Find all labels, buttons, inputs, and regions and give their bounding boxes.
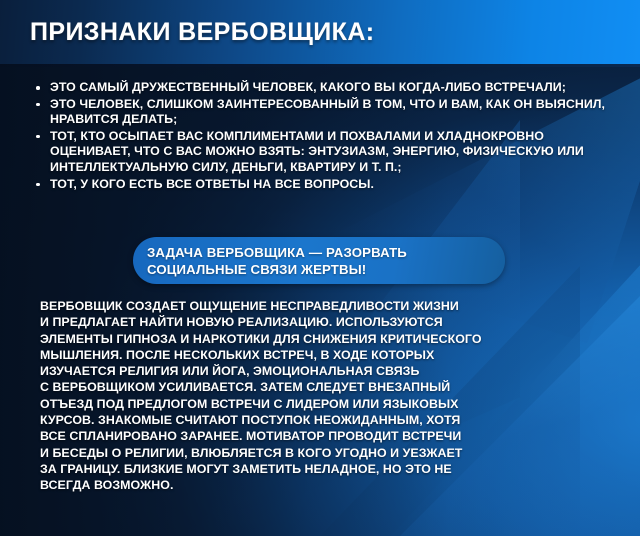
- list-item: ТОТ, КТО ОСЫПАЕТ ВАС КОМПЛИМЕНТАМИ И ПОХ…: [32, 129, 618, 176]
- body-line: ИЗУЧАЕТСЯ РЕЛИГИЯ ИЛИ ЙОГА, ЭМОЦИОНАЛЬНА…: [40, 363, 620, 379]
- infographic-slide: ПРИЗНАКИ ВЕРБОВЩИКА: ЭТО САМЫЙ ДРУЖЕСТВЕ…: [0, 0, 640, 536]
- body-line: ВСЕ СПЛАНИРОВАНО ЗАРАНЕЕ. МОТИВАТОР ПРОВ…: [40, 428, 620, 444]
- page-title: ПРИЗНАКИ ВЕРБОВЩИКА:: [30, 18, 375, 47]
- body-line: МЫШЛЕНИЯ. ПОСЛЕ НЕСКОЛЬКИХ ВСТРЕЧ, В ХОД…: [40, 347, 620, 363]
- body-line: ЭЛЕМЕНТЫ ГИПНОЗА И НАРКОТИКИ ДЛЯ СНИЖЕНИ…: [40, 331, 620, 347]
- callout-banner: ЗАДАЧА ВЕРБОВЩИКА — РАЗОРВАТЬ СОЦИАЛЬНЫЕ…: [133, 237, 505, 284]
- header-underline: [0, 64, 640, 67]
- callout-line-2: СОЦИАЛЬНЫЕ СВЯЗИ ЖЕРТВЫ!: [147, 262, 366, 277]
- list-item: ТОТ, У КОГО ЕСТЬ ВСЕ ОТВЕТЫ НА ВСЕ ВОПРО…: [32, 177, 618, 193]
- callout-line-1: ЗАДАЧА ВЕРБОВЩИКА — РАЗОРВАТЬ: [147, 245, 407, 260]
- body-line: И БЕСЕДЫ О РЕЛИГИИ, ВЛЮБЛЯЕТСЯ В КОГО УГ…: [40, 445, 620, 461]
- body-line: ВЕРБОВЩИК СОЗДАЕТ ОЩУЩЕНИЕ НЕСПРАВЕДЛИВО…: [40, 298, 620, 314]
- body-paragraph: ВЕРБОВЩИК СОЗДАЕТ ОЩУЩЕНИЕ НЕСПРАВЕДЛИВО…: [40, 298, 620, 494]
- body-line: ОТЪЕЗД ПОД ПРЕДЛОГОМ ВСТРЕЧИ С ЛИДЕРОМ И…: [40, 396, 620, 412]
- callout-text: ЗАДАЧА ВЕРБОВЩИКА — РАЗОРВАТЬ СОЦИАЛЬНЫЕ…: [133, 244, 505, 278]
- signs-list: ЭТО САМЫЙ ДРУЖЕСТВЕННЫЙ ЧЕЛОВЕК, КАКОГО …: [32, 80, 618, 193]
- body-line: КУРСОВ. ЗНАКОМЫЕ СЧИТАЮТ ПОСТУПОК НЕОЖИД…: [40, 412, 620, 428]
- list-item: ЭТО ЧЕЛОВЕК, СЛИШКОМ ЗАИНТЕРЕСОВАННЫЙ В …: [32, 97, 618, 128]
- body-line: ВСЕГДА ВОЗМОЖНО.: [40, 477, 620, 493]
- body-line: ЗА ГРАНИЦУ. БЛИЗКИЕ МОГУТ ЗАМЕТИТЬ НЕЛАД…: [40, 461, 620, 477]
- list-item: ЭТО САМЫЙ ДРУЖЕСТВЕННЫЙ ЧЕЛОВЕК, КАКОГО …: [32, 80, 618, 96]
- body-line: И ПРЕДЛАГАЕТ НАЙТИ НОВУЮ РЕАЛИЗАЦИЮ. ИСП…: [40, 314, 620, 330]
- body-line: С ВЕРБОВЩИКОМ УСИЛИВАЕТСЯ. ЗАТЕМ СЛЕДУЕТ…: [40, 379, 620, 395]
